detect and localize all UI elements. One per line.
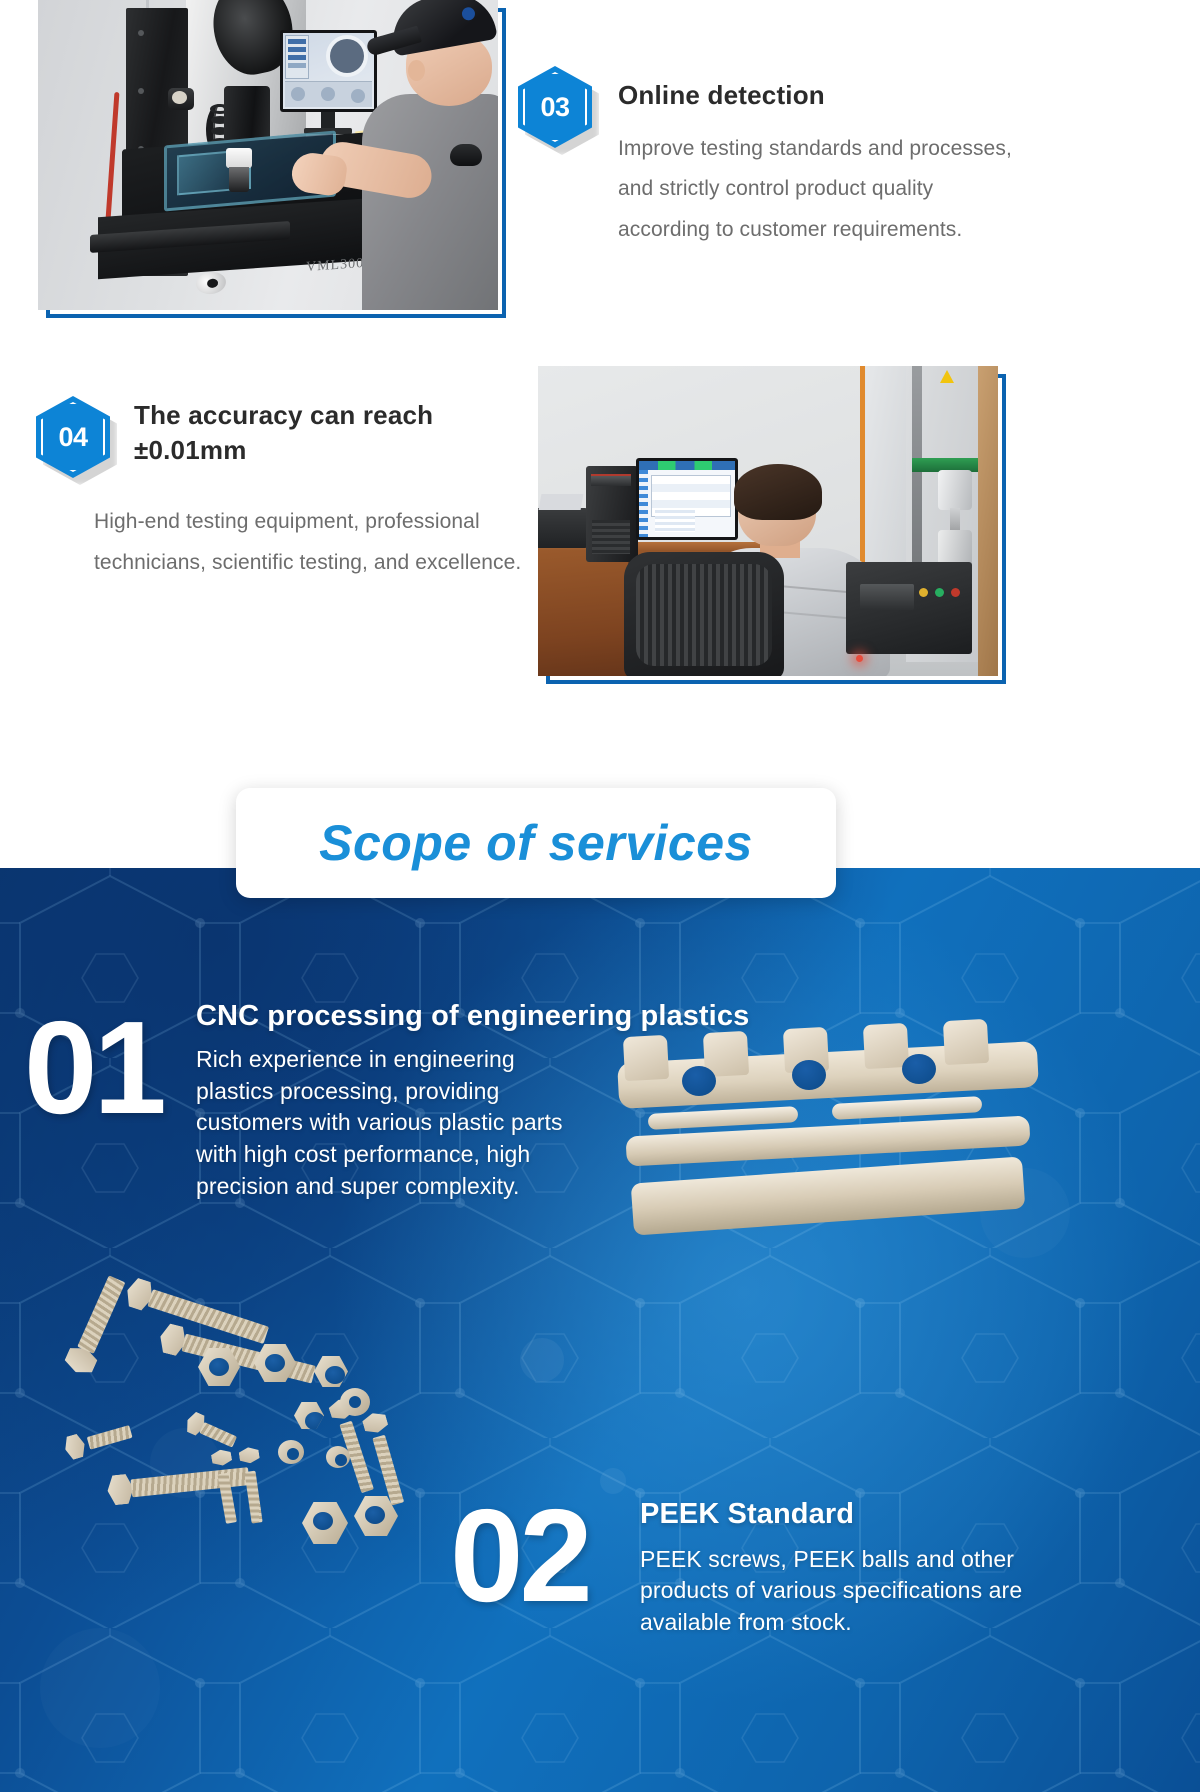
service-item-01-title: CNC processing of engineering plastics [196, 1000, 936, 1033]
service-item-01-body: Rich experience in engineering plastics … [196, 1044, 596, 1203]
peek-fasteners-image [40, 1270, 500, 1570]
feature-title-03: Online detection [618, 78, 1018, 113]
features-section: VML300 03 Online detection Improve testi… [0, 0, 1200, 868]
peek-machined-part-image [618, 1022, 1038, 1252]
bokeh-dot [520, 1338, 564, 1382]
photo-testing-lab-image [538, 366, 998, 676]
service-item-01-number: 01 [24, 1010, 163, 1126]
feature-body-03: Improve testing standards and processes,… [618, 129, 1018, 250]
feature-body-04: High-end testing equipment, professional… [94, 502, 524, 583]
scope-of-services-title-card: Scope of services [236, 788, 836, 898]
photo-testing-lab [546, 374, 1006, 684]
bokeh-dot [40, 1628, 160, 1748]
photo-online-detection: VML300 [46, 8, 506, 318]
badge-number: 04 [36, 396, 110, 478]
feature-text-04: The accuracy can reach ±0.01mm High-end … [134, 398, 529, 583]
service-item-02-body: PEEK screws, PEEK balls and other produc… [640, 1544, 1040, 1638]
service-item-02-number: 02 [450, 1498, 589, 1614]
feature-badge-04: 04 [36, 396, 110, 478]
service-item-01: 01 CNC processing of engineering plastic… [0, 1000, 660, 1270]
photo-online-detection-image: VML300 [38, 0, 498, 310]
scope-of-services-heading: Scope of services [319, 814, 753, 872]
service-item-02-title: PEEK Standard [640, 1498, 1180, 1531]
feature-badge-03: 03 [518, 66, 592, 148]
feature-title-04: The accuracy can reach ±0.01mm [134, 398, 529, 468]
service-item-02: 02 PEEK Standard PEEK screws, PEEK balls… [440, 1490, 1200, 1750]
badge-number: 03 [518, 66, 592, 148]
feature-text-03: Online detection Improve testing standar… [618, 78, 1018, 250]
